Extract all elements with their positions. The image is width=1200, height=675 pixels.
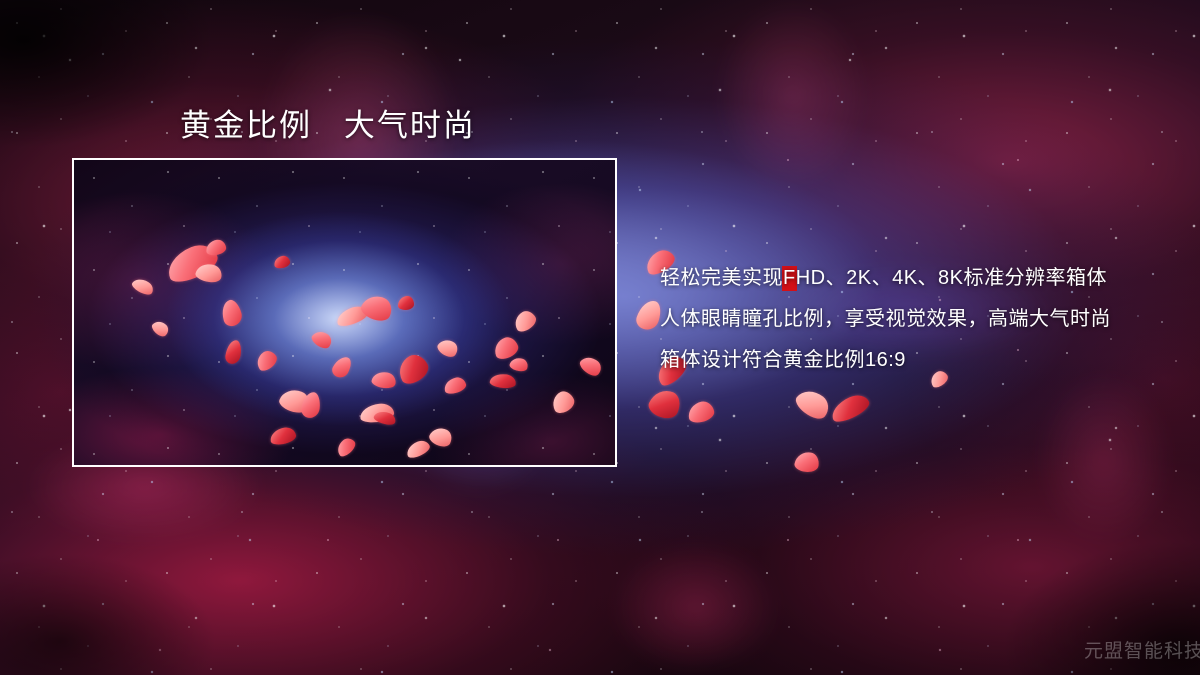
presentation-slide: 黄金比例 大气时尚 轻松完美实现FHD、2K、4K、8K标准分辨率箱体 人体眼睛…: [0, 0, 1200, 675]
petal-decoration: [398, 296, 414, 310]
petal-decoration: [792, 384, 834, 424]
watermark: 元盟智能科技: [1084, 636, 1200, 663]
body-line-1-pre: 轻松完美实现: [660, 267, 783, 289]
highlighted-character: F: [783, 266, 796, 291]
image-panel[interactable]: [72, 158, 617, 467]
body-line-1: 轻松完美实现FHD、2K、4K、8K标准分辨率箱体: [660, 258, 1180, 299]
petal-decoration: [793, 450, 820, 474]
body-copy: 轻松完美实现FHD、2K、4K、8K标准分辨率箱体 人体眼睛瞳孔比例，享受视觉效…: [660, 258, 1180, 381]
body-line-3: 箱体设计符合黄金比例16:9: [660, 340, 1180, 381]
body-line-2: 人体眼睛瞳孔比例，享受视觉效果，高端大气时尚: [660, 299, 1180, 340]
body-line-1-post: HD、2K、4K、8K标准分辨率箱体: [796, 267, 1107, 289]
petal-decoration: [646, 385, 685, 423]
petal-decoration: [686, 400, 716, 425]
page-title: 黄金比例 大气时尚: [180, 100, 476, 145]
petal-decoration: [828, 391, 873, 426]
